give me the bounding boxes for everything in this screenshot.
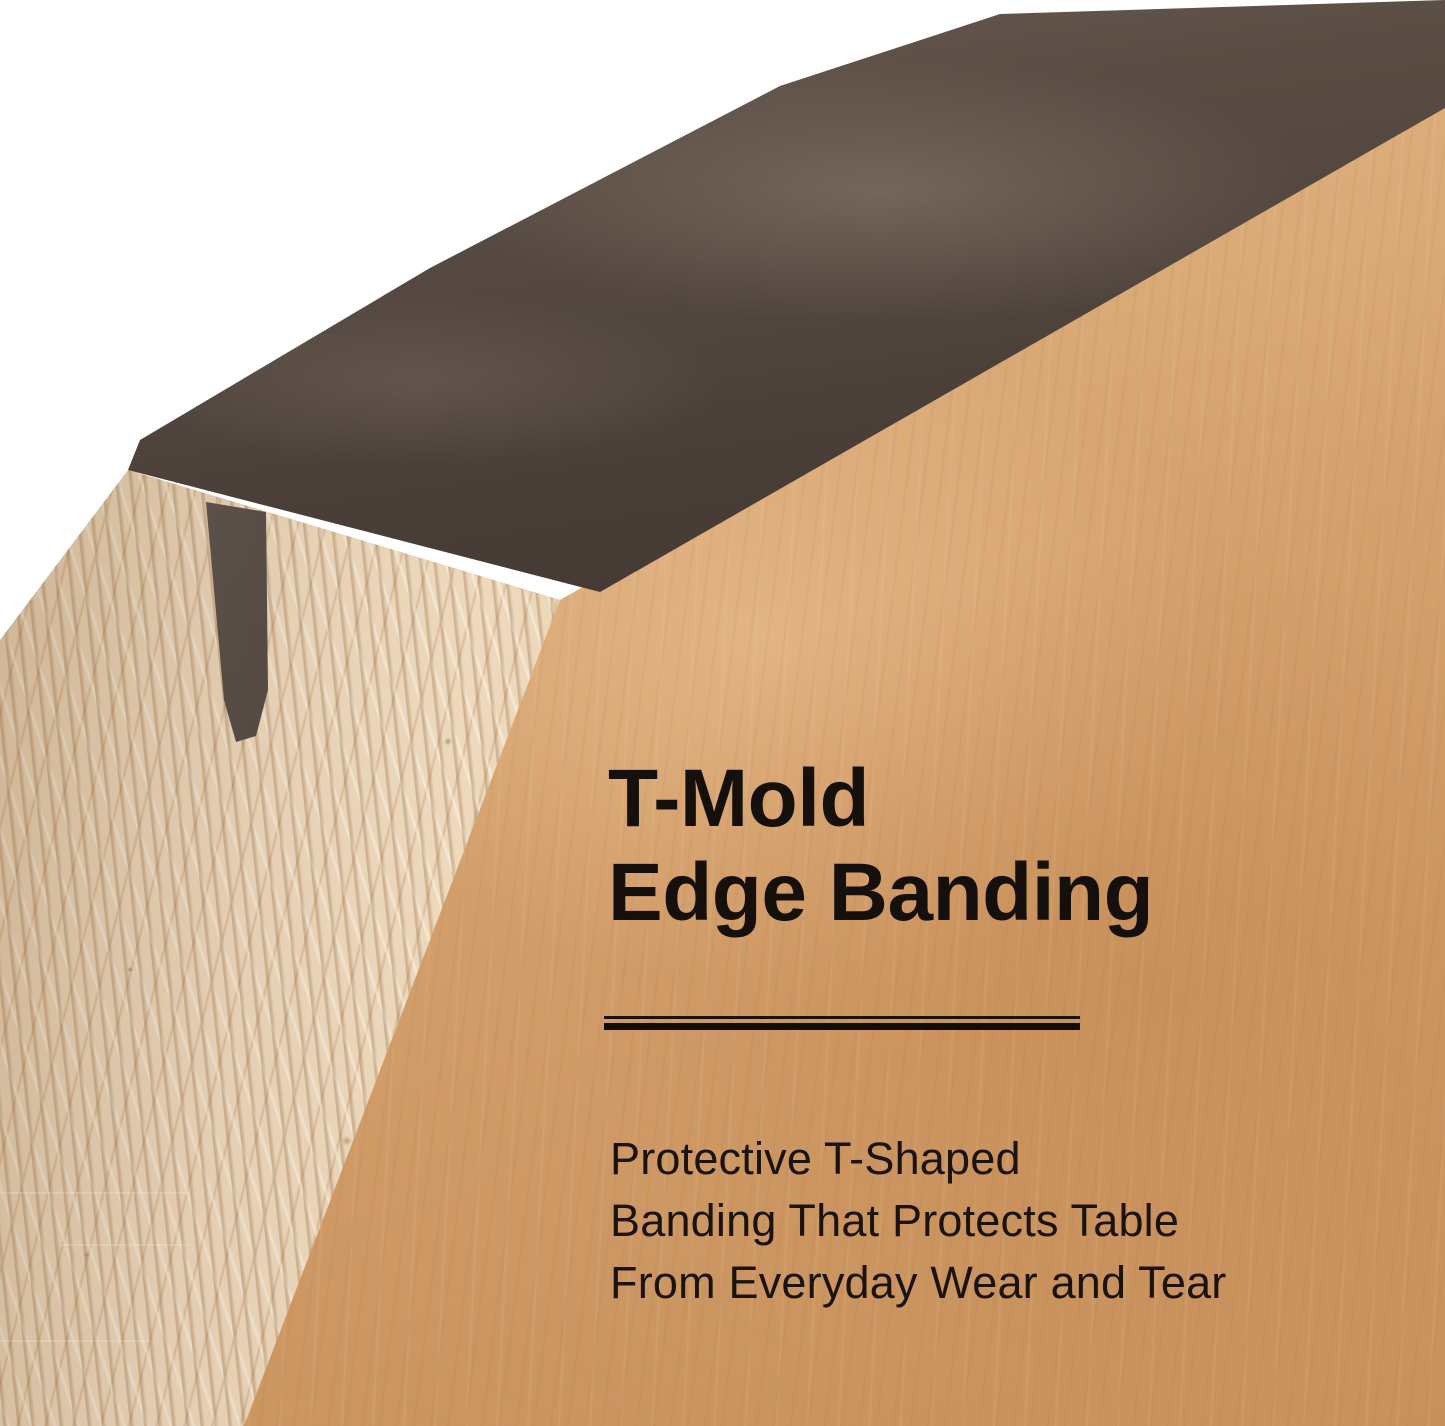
divider-rule-thick [604,1023,1080,1030]
divider [604,1016,1080,1028]
divider-rule-thin [604,1016,1080,1019]
product-feature-image: T-Mold Edge Banding Protective T-Shaped … [0,0,1445,1426]
description-text: Protective T-Shaped Banding That Protect… [610,1128,1370,1314]
headline: T-Mold Edge Banding [608,752,1308,940]
